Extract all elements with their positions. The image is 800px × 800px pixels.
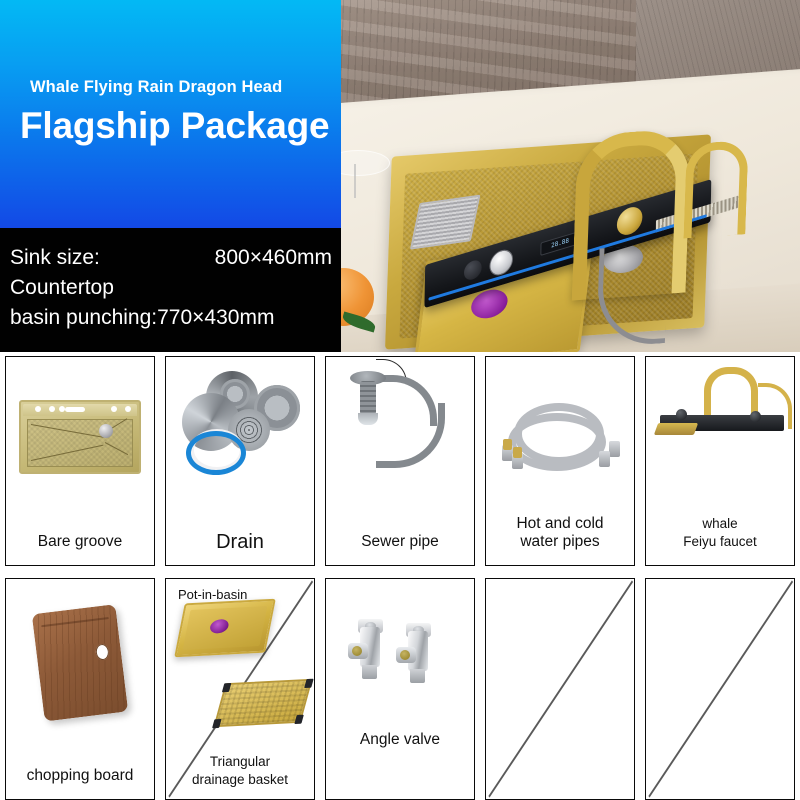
divider-diagonal [486, 579, 634, 799]
spec-row-countertop: Countertop [10, 276, 114, 300]
banner-title: Flagship Package [20, 104, 335, 148]
part-caption: Triangular drainage basket [166, 753, 314, 789]
part-caption: chopping board [6, 767, 154, 785]
part-cell-water-pipes[interactable]: Hot and cold water pipes [485, 356, 635, 566]
sink-basin-icon [6, 357, 154, 517]
part-cell-pot-and-basket[interactable]: Pot-in-basin Triangular drainage basket [165, 578, 315, 800]
parts-row-2: chopping board Pot-in-basin Triangula [0, 578, 800, 800]
panel-knob-icon [464, 258, 482, 282]
spec-row-punching: basin punching:770×430mm [10, 306, 274, 330]
part-cell-sewer-pipe[interactable]: Sewer pipe [325, 356, 475, 566]
wine-glass-stem [354, 164, 356, 198]
sink-size-label: Sink size: [10, 246, 100, 270]
parts-grid: Bare groove Drain [0, 356, 800, 800]
chopping-board-icon [6, 579, 154, 751]
part-caption: Bare groove [6, 533, 154, 551]
part-cell-bare-groove[interactable]: Bare groove [5, 356, 155, 566]
part-caption: Angle valve [326, 731, 474, 749]
part-caption: Drain [166, 533, 314, 551]
part-cell-empty-2[interactable] [645, 578, 795, 800]
spec-row-sink-size: Sink size: 800×460mm [10, 246, 332, 270]
spec-box: Sink size: 800×460mm Countertop basin pu… [0, 228, 341, 352]
part-cell-empty-1[interactable] [485, 578, 635, 800]
title-banner: Whale Flying Rain Dragon Head Flagship P… [0, 0, 341, 228]
parts-row-1: Bare groove Drain [0, 356, 800, 566]
part-cell-drain[interactable]: Drain [165, 356, 315, 566]
part-caption: whale Feiyu faucet [646, 515, 794, 551]
hero-product-photo: 28.88 [336, 0, 800, 352]
part-cell-faucet[interactable]: whale Feiyu faucet [645, 356, 795, 566]
drain-parts-icon [166, 357, 314, 517]
hero-section: 28.88 Whale Flying Rain Dragon Head Flag… [0, 0, 800, 352]
part-cell-angle-valve[interactable]: Angle valve [325, 578, 475, 800]
part-cell-chopping-board[interactable]: chopping board [5, 578, 155, 800]
pot-and-basket-icon [166, 579, 314, 751]
divider-diagonal [646, 579, 794, 799]
banner-subtitle: Whale Flying Rain Dragon Head [30, 78, 322, 97]
mesh-basket-icon [410, 195, 481, 250]
water-hose-icon [486, 357, 634, 517]
faucet-assembly-icon [646, 357, 794, 517]
part-caption: Hot and cold water pipes [486, 515, 634, 551]
angle-valve-icon [326, 579, 474, 751]
sink-size-value: 800×460mm [215, 246, 332, 270]
sewer-pipe-icon [326, 357, 474, 517]
gold-sink-basin: 28.88 [385, 134, 711, 349]
part-caption: Sewer pipe [326, 533, 474, 551]
product-infographic: 28.88 Whale Flying Rain Dragon Head Flag… [0, 0, 800, 800]
secondary-faucet [683, 140, 748, 239]
pull-down-hose [596, 244, 668, 348]
